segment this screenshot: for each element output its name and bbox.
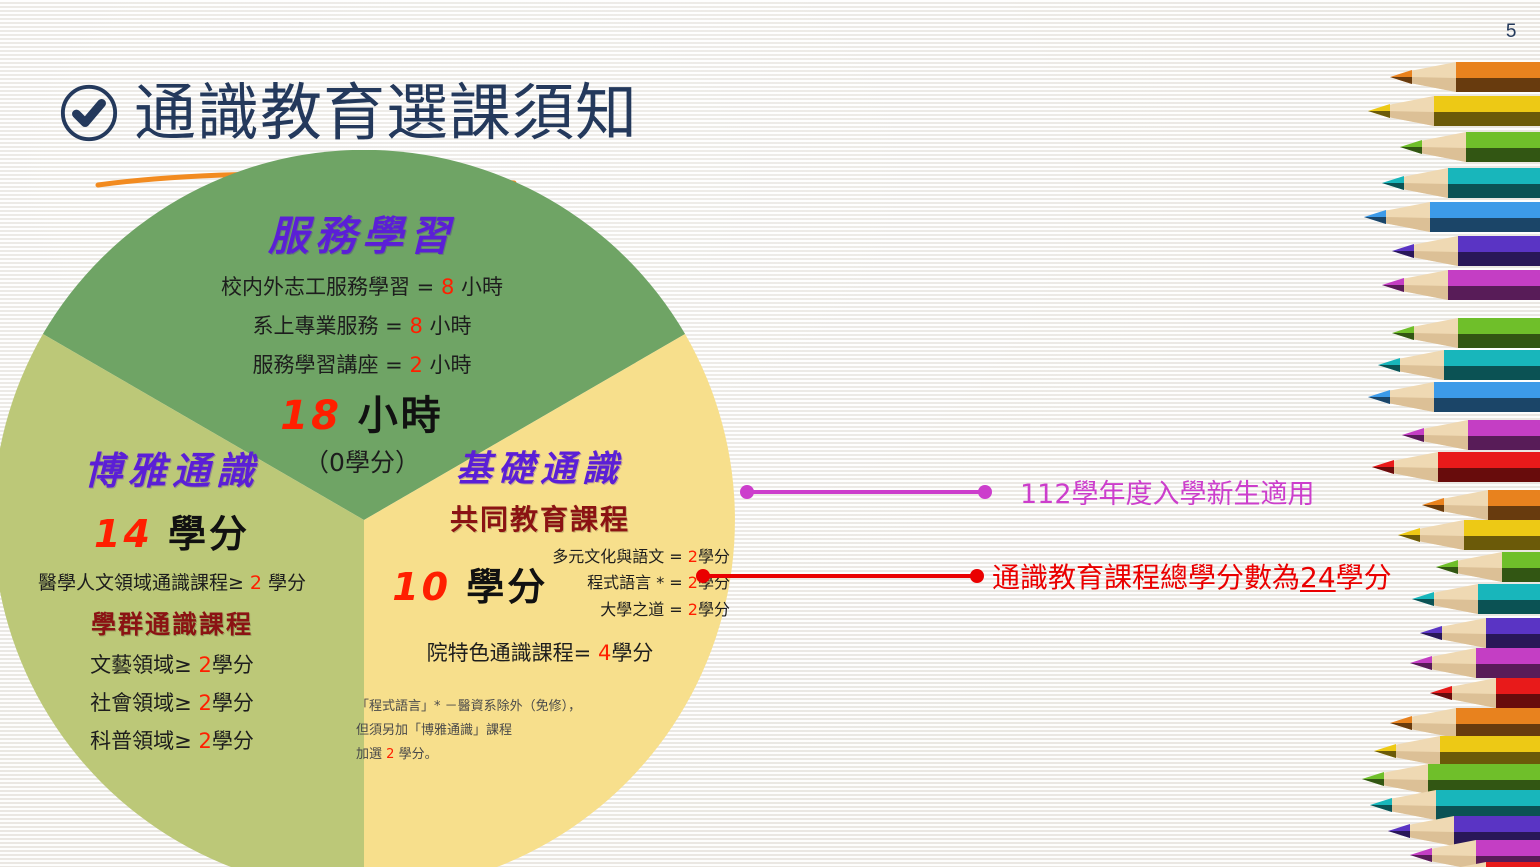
pencil-tip [1364,202,1386,232]
pencil-tip [1412,584,1434,614]
pencil-barrel [1430,202,1540,232]
pencil-5 [1355,202,1540,232]
pencil-tip [1422,490,1444,520]
pencil-tip [1430,678,1452,708]
basic-total: 10 學分 [392,556,548,611]
basic-credits-row: 10 學分 多元文化與語文 = 2學分 程式語言 * = 2學分 大學之道 = … [350,544,730,623]
pencil-wood [1410,708,1456,738]
segment-title-liberal: 博雅通識 [0,440,352,495]
pencil-2 [1355,96,1540,126]
basic-footnote: 「程式語言」* －醫資系除外（免修）， 但須另加「博雅通識」課程 加選 2 學分… [350,695,730,767]
footnote-line-2: 但須另加「博雅通識」課程 [356,719,730,743]
liberal-sub-line-1: 文藝領域≥ 2學分 [0,649,352,679]
pencil-wood [1420,132,1466,162]
basic-college-course: 院特色通識課程= 4學分 [350,637,730,667]
pencil-tip [1392,236,1414,266]
pencil-barrel [1444,350,1540,380]
pencil-wood [1440,618,1486,648]
pencil-tip [1420,618,1442,648]
pencil-barrel [1488,490,1540,520]
pencil-wood [1432,584,1478,614]
page-title: 通識教育選課須知 [58,82,638,144]
pencil-10 [1355,382,1540,412]
pencil-barrel [1466,132,1540,162]
pencil-barrel [1496,678,1540,708]
basic-course-3: 大學之道 = 2學分 [552,597,730,623]
service-line-2: 系上專業服務 = 8 小時 [122,310,602,340]
pencil-barrel [1448,168,1540,198]
pencil-wood [1450,678,1496,708]
callout-connector-magenta [742,486,990,498]
pencil-1 [1355,62,1540,92]
pencil-tip [1368,96,1390,126]
pencil-3 [1355,132,1540,162]
pencil-26 [1355,862,1540,867]
pencil-wood [1388,96,1434,126]
pencil-barrel [1486,862,1540,867]
pencil-9 [1355,350,1540,380]
pencil-tip [1420,862,1442,867]
pencil-wood [1388,382,1434,412]
pencil-4 [1355,168,1540,198]
pencil-tip [1400,132,1422,162]
pencil-wood [1456,552,1502,582]
pie-segment-service-learning: 服務學習 校内外志工服務學習 = 8 小時 系上專業服務 = 8 小時 服務學習… [122,202,602,479]
liberal-total: 14 學分 [0,503,352,558]
pencil-tip [1392,318,1414,348]
pencil-tip [1374,736,1396,766]
connector-dot-left [740,485,754,499]
slide-canvas: 5 通識教育選課須知 服務學習 校内外志工服務學習 = 8 小時 [0,0,1540,867]
pie-segment-liberal-education: 博雅通識 14 學分 醫學人文領域通識課程≥ 2 學分 學群通識課程 文藝領域≥… [0,440,352,755]
liberal-sub-line-2: 社會領域≥ 2學分 [0,687,352,717]
pencil-wood [1442,490,1488,520]
footnote-line-3: 加選 2 學分。 [356,743,730,767]
pencil-tip [1390,708,1412,738]
pencil-barrel [1486,618,1540,648]
pencil-wood [1440,862,1486,867]
pencil-wood [1430,648,1476,678]
service-total: 18 小時 [122,383,602,441]
pencil-tip [1390,62,1412,92]
pencil-15 [1355,552,1540,582]
segment-subtitle-liberal: 學群通識課程 [0,605,352,641]
pencil-tip [1382,168,1404,198]
pencil-barrel [1502,552,1540,582]
liberal-requirement: 醫學人文領域通識課程≥ 2 學分 [0,568,352,595]
pencil-barrel [1476,648,1540,678]
connector-dot-right [970,569,984,583]
pencil-wood [1392,452,1438,482]
pencil-barrel [1440,736,1540,766]
pencil-barrel [1448,270,1540,300]
pencil-20 [1355,708,1540,738]
pencil-14 [1355,520,1540,550]
pencil-8 [1355,318,1540,348]
pencil-tip [1378,350,1400,380]
service-line-1: 校内外志工服務學習 = 8 小時 [122,271,602,301]
connector-line [742,490,990,494]
service-line-3: 服務學習講座 = 2 小時 [122,349,602,379]
pencil-barrel [1468,420,1540,450]
pencil-wood [1422,420,1468,450]
pencil-tip [1368,382,1390,412]
pencil-barrel [1456,708,1540,738]
liberal-sub-line-3: 科普領域≥ 2學分 [0,725,352,755]
pencil-tip [1402,420,1424,450]
pencil-wood [1384,202,1430,232]
pencil-13 [1355,490,1540,520]
pencil-barrel [1434,96,1540,126]
pencil-wood [1418,520,1464,550]
pencil-21 [1355,736,1540,766]
pencil-tip [1398,520,1420,550]
general-education-pie-chart: 服務學習 校内外志工服務學習 = 8 小時 系上專業服務 = 8 小時 服務學習… [0,150,752,867]
pencil-tip [1372,452,1394,482]
pencil-barrel [1458,236,1540,266]
pie-segment-basic-education: 基礎通識 共同教育課程 10 學分 多元文化與語文 = 2學分 程式語言 * =… [350,440,730,767]
pencil-barrel [1458,318,1540,348]
pencil-wood [1410,62,1456,92]
segment-subtitle-basic: 共同教育課程 [350,498,730,538]
pencil-wood [1412,318,1458,348]
callout-red-text: 通識教育課程總學分數為24學分 [992,556,1392,596]
pencil-barrel [1478,584,1540,614]
pencil-17 [1355,618,1540,648]
pencil-16 [1355,584,1540,614]
pencil-11 [1355,420,1540,450]
check-circle-icon [58,82,120,144]
connector-dot-right [978,485,992,499]
pencil-barrel [1464,520,1540,550]
pencil-7 [1355,270,1540,300]
pencil-barrel [1434,382,1540,412]
pencil-tip [1382,270,1404,300]
connector-line [698,574,982,578]
page-title-text: 通識教育選課須知 [134,82,638,144]
colored-pencils-decoration [1355,0,1540,867]
callout-total-credits: 通識教育課程總學分數為24學分 [698,556,1392,596]
callout-new-students: 112學年度入學新生適用 [742,472,1315,511]
pencil-wood [1398,350,1444,380]
pencil-wood [1402,270,1448,300]
connector-dot-left [696,569,710,583]
segment-title-basic: 基礎通識 [350,440,730,492]
pencil-wood [1402,168,1448,198]
pencil-19 [1355,678,1540,708]
pencil-wood [1412,236,1458,266]
segment-title-service: 服務學習 [122,202,602,262]
callout-connector-red [698,570,982,582]
pencil-6 [1355,236,1540,266]
pencil-18 [1355,648,1540,678]
footnote-line-1: 「程式語言」* －醫資系除外（免修）， [356,695,730,719]
pencil-12 [1355,452,1540,482]
pencil-wood [1394,736,1440,766]
pencil-tip [1436,552,1458,582]
pencil-barrel [1456,62,1540,92]
pencil-barrel [1438,452,1540,482]
callout-magenta-text: 112學年度入學新生適用 [1020,472,1315,511]
pencil-tip [1410,648,1432,678]
